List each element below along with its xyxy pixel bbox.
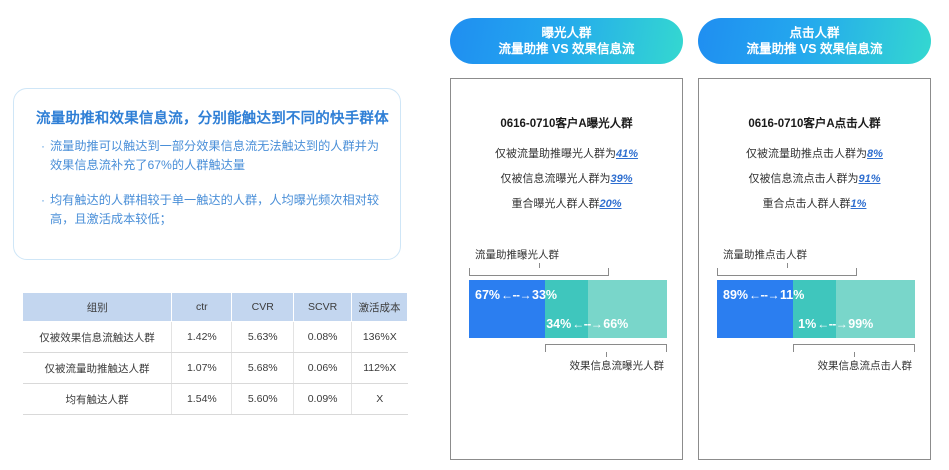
overlap-bar: 67% ←--→ 33% 34% ←--→ 66% xyxy=(469,280,667,338)
table-cell: 0.08% xyxy=(294,322,352,353)
table-row: 均有触达人群 1.54% 5.60% 0.09% X xyxy=(23,384,408,415)
table-header-row: 组别 ctr CVR SCVR 激活成本 xyxy=(23,293,408,322)
bar-value-bottom-left: 34% xyxy=(546,317,571,331)
bar-value-top-left: 67% xyxy=(475,288,500,302)
stat-lines: 仅被流量助推曝光人群为41% 仅被信息流曝光人群为39% 重合曝光人群人群20% xyxy=(451,142,682,217)
stat-value: 91% xyxy=(858,173,880,185)
bar-bottom-bracket xyxy=(545,344,667,355)
table-cell: 0.09% xyxy=(294,384,352,415)
metrics-table: 组别 ctr CVR SCVR 激活成本 仅被效果信息流触达人群 1.42% 5… xyxy=(22,292,408,415)
stat-line: 重合曝光人群人群20% xyxy=(451,192,682,217)
column-header: ctr xyxy=(172,293,232,322)
bar-value-top-right: 11% xyxy=(780,288,804,302)
stat-label: 仅被信息流点击人群为 xyxy=(748,173,858,185)
bar-row-top: 89% ←--→ 11% xyxy=(717,280,915,309)
panel-header-subtitle: 流量助推 VS 效果信息流 xyxy=(498,41,634,58)
panel-body: 0616-0710客户A曝光人群 仅被流量助推曝光人群为41% 仅被信息流曝光人… xyxy=(450,78,683,460)
bracket-right-end xyxy=(666,344,667,352)
bracket-tick xyxy=(539,263,540,268)
table-cell: 1.54% xyxy=(172,384,232,415)
stat-line: 重合点击人群人群1% xyxy=(699,192,930,217)
column-header: CVR xyxy=(232,293,294,322)
bracket-left-end xyxy=(793,344,794,352)
bracket-right-end xyxy=(914,344,915,352)
column-header: SCVR xyxy=(294,293,352,322)
table-cell: 5.68% xyxy=(232,353,294,384)
table-cell: 0.06% xyxy=(294,353,352,384)
stat-value: 39% xyxy=(610,173,632,185)
table-cell: 136%X xyxy=(352,322,408,353)
bar-value-top-left: 89% xyxy=(723,288,748,302)
table-cell: 5.60% xyxy=(232,384,294,415)
table-cell: 仅被效果信息流触达人群 xyxy=(23,322,172,353)
double-arrow-icon: ←--→ xyxy=(572,317,602,331)
bracket-tick xyxy=(606,352,607,357)
stat-label: 仅被流量助推点击人群为 xyxy=(746,148,867,160)
panel-title: 0616-0710客户A曝光人群 xyxy=(451,115,682,131)
panel-header-title: 点击人群 xyxy=(789,25,839,41)
panel-click: 点击人群 流量助推 VS 效果信息流 0616-0710客户A点击人群 仅被流量… xyxy=(688,0,942,470)
column-header: 激活成本 xyxy=(352,293,408,322)
stat-value: 8% xyxy=(867,148,883,160)
table-cell: X xyxy=(352,384,408,415)
stat-value: 1% xyxy=(851,198,867,210)
double-arrow-icon: ←--→ xyxy=(817,317,847,331)
bracket-tick xyxy=(787,263,788,268)
bracket-left-end xyxy=(469,268,470,276)
bar-top-label: 流量助推点击人群 xyxy=(699,247,930,262)
callout-list: · 流量助推可以触达到一部分效果信息流无法触达到的人群并为效果信息流补充了67%… xyxy=(36,137,384,245)
stat-line: 仅被信息流曝光人群为39% xyxy=(451,167,682,192)
bracket-line xyxy=(793,344,915,345)
bar-row-top: 67% ←--→ 33% xyxy=(469,280,667,309)
list-item: · 均有触达的人群相较于单一触达的人群，人均曝光频次相对较高，且激活成本较低； xyxy=(36,191,384,229)
list-item: · 流量助推可以触达到一部分效果信息流无法触达到的人群并为效果信息流补充了67%… xyxy=(36,137,384,175)
table-cell: 仅被流量助推触达人群 xyxy=(23,353,172,384)
stat-line: 仅被流量助推曝光人群为41% xyxy=(451,142,682,167)
stat-line: 仅被流量助推点击人群为8% xyxy=(699,142,930,167)
table-cell: 112%X xyxy=(352,353,408,384)
bar-value-bottom-right: 99% xyxy=(848,317,873,331)
table-cell: 5.63% xyxy=(232,322,294,353)
left-column: 流量助推和效果信息流，分别能触达到不同的快手群体 · 流量助推可以触达到一部分效… xyxy=(0,0,430,470)
bracket-line xyxy=(469,275,609,276)
stat-line: 仅被信息流点击人群为91% xyxy=(699,167,930,192)
bar-bottom-label: 效果信息流曝光人群 xyxy=(451,358,682,373)
bracket-left-end xyxy=(717,268,718,276)
bar-value-bottom-left: 1% xyxy=(798,317,816,331)
table-row: 仅被流量助推触达人群 1.07% 5.68% 0.06% 112%X xyxy=(23,353,408,384)
bar-row-bottom: 34% ←--→ 66% xyxy=(469,309,667,338)
bar-top-label: 流量助推曝光人群 xyxy=(451,247,682,262)
stat-label: 仅被信息流曝光人群为 xyxy=(500,173,610,185)
stat-label: 重合曝光人群人群 xyxy=(511,198,599,210)
bar-block: 流量助推点击人群 89% ←--→ 11% 1% ←--→ xyxy=(699,247,930,373)
callout-item-text: 流量助推可以触达到一部分效果信息流无法触达到的人群并为效果信息流补充了67%的人… xyxy=(50,137,384,175)
panel-title: 0616-0710客户A点击人群 xyxy=(699,115,930,131)
bracket-line xyxy=(717,275,857,276)
panel-header: 点击人群 流量助推 VS 效果信息流 xyxy=(698,18,931,64)
bar-bottom-bracket xyxy=(793,344,915,355)
callout-title: 流量助推和效果信息流，分别能触达到不同的快手群体 xyxy=(36,107,386,128)
bar-top-bracket xyxy=(717,265,857,276)
panel-body: 0616-0710客户A点击人群 仅被流量助推点击人群为8% 仅被信息流点击人群… xyxy=(698,78,931,460)
bar-top-bracket xyxy=(469,265,609,276)
bracket-right-end xyxy=(608,268,609,276)
table-cell: 1.42% xyxy=(172,322,232,353)
overlap-bar: 89% ←--→ 11% 1% ←--→ 99% xyxy=(717,280,915,338)
bracket-line xyxy=(545,344,667,345)
callout-box: 流量助推和效果信息流，分别能触达到不同的快手群体 · 流量助推可以触达到一部分效… xyxy=(13,88,401,260)
bracket-right-end xyxy=(856,268,857,276)
table-row: 仅被效果信息流触达人群 1.42% 5.63% 0.08% 136%X xyxy=(23,322,408,353)
stat-lines: 仅被流量助推点击人群为8% 仅被信息流点击人群为91% 重合点击人群人群1% xyxy=(699,142,930,217)
table-cell: 1.07% xyxy=(172,353,232,384)
panel-exposure: 曝光人群 流量助推 VS 效果信息流 0616-0710客户A曝光人群 仅被流量… xyxy=(440,0,694,470)
table-cell: 均有触达人群 xyxy=(23,384,172,415)
panel-header-subtitle: 流量助推 VS 效果信息流 xyxy=(746,41,882,58)
double-arrow-icon: ←--→ xyxy=(501,288,531,302)
bracket-tick xyxy=(854,352,855,357)
panel-header-title: 曝光人群 xyxy=(541,25,591,41)
bar-row-bottom: 1% ←--→ 99% xyxy=(717,309,915,338)
double-arrow-icon: ←--→ xyxy=(749,288,779,302)
panel-header: 曝光人群 流量助推 VS 效果信息流 xyxy=(450,18,683,64)
bullet-icon: · xyxy=(36,137,50,156)
bracket-left-end xyxy=(545,344,546,352)
bar-value-top-right: 33% xyxy=(532,288,557,302)
bar-block: 流量助推曝光人群 67% ←--→ 33% 34% ←--→ xyxy=(451,247,682,373)
callout-item-text: 均有触达的人群相较于单一触达的人群，人均曝光频次相对较高，且激活成本较低； xyxy=(50,191,384,229)
stat-label: 重合点击人群人群 xyxy=(763,198,851,210)
stat-label: 仅被流量助推曝光人群为 xyxy=(495,148,616,160)
bar-bottom-label: 效果信息流点击人群 xyxy=(699,358,930,373)
bullet-icon: · xyxy=(36,191,50,210)
column-header: 组别 xyxy=(23,293,172,322)
bar-value-bottom-right: 66% xyxy=(603,317,628,331)
stat-value: 41% xyxy=(616,148,638,160)
stat-value: 20% xyxy=(599,198,621,210)
